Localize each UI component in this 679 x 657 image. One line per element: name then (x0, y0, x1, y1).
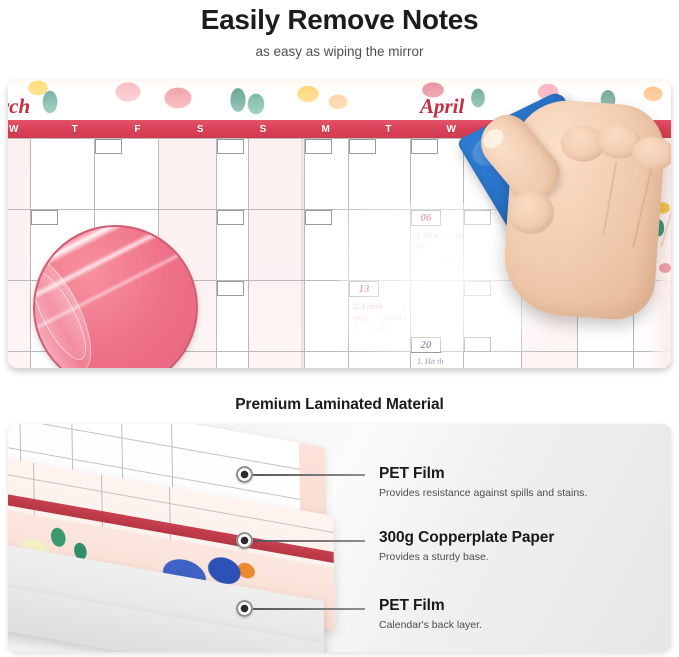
date-box (217, 281, 244, 296)
date-box (349, 139, 376, 154)
day-initial: T (44, 120, 107, 138)
day-initial: S (169, 120, 232, 138)
date-cell-13: 13 (349, 281, 379, 297)
callout-dot-copperplate-paper (236, 532, 253, 549)
grid-column-line (410, 138, 411, 368)
callout-heading: 300g Copperplate Paper (379, 528, 554, 547)
product-infographic: Easily Remove Notes as easy as wiping th… (0, 0, 679, 657)
day-initial: S (232, 120, 295, 138)
material-layers-diagram: PET Film Provides resistance against spi… (8, 424, 671, 652)
grid-column-line (304, 138, 305, 368)
grid-column-line (30, 138, 31, 368)
callout-dot-pet-film-back (236, 600, 253, 617)
callout-line-pet-film-back (253, 608, 365, 610)
day-initial: T (357, 120, 420, 138)
month-label-april: April (420, 94, 464, 119)
handwritten-note-20-line2: 2. Buy ip (417, 367, 462, 368)
grid-column-line (216, 138, 217, 368)
date-box (305, 210, 332, 225)
callout-description: Provides a sturdy base. (379, 547, 554, 565)
date-box (411, 139, 438, 154)
callout-dot-pet-film-top (236, 466, 253, 483)
grid-column-line (248, 138, 249, 368)
callout-line-pet-film-top (253, 474, 365, 476)
header: Easily Remove Notes as easy as wiping th… (0, 0, 679, 70)
knuckle-shape (631, 135, 671, 172)
date-box (305, 139, 332, 154)
calendar-center-fold (301, 138, 304, 368)
material-section-title: Premium Laminated Material (0, 396, 679, 414)
finger-crease (632, 169, 651, 247)
handwritten-note-13-line1: 2. Finish e (354, 302, 406, 313)
finger-crease (660, 179, 671, 247)
grid-column-line (348, 138, 349, 368)
finger-crease (602, 162, 616, 235)
callout-heading: PET Film (379, 596, 482, 615)
handwritten-note-06-line2: for ? (416, 242, 431, 253)
date-box (95, 139, 122, 154)
date-cell-20: 20 (411, 337, 441, 353)
callout-text-pet-film-back: PET Film Calendar's back layer. (379, 596, 482, 633)
handwritten-note-13-line3: ? n 5r (354, 324, 387, 335)
grid-tint (248, 138, 302, 368)
date-box (217, 139, 244, 154)
thumbnail-shape (480, 125, 507, 151)
date-box (31, 210, 58, 225)
grid-tint (8, 138, 30, 368)
callout-text-pet-film-top: PET Film Provides resistance against spi… (379, 464, 587, 501)
calendar-demo-image: rch April W T F S S M T W T F S (8, 80, 671, 368)
hand-with-eraser (466, 80, 671, 330)
page-title: Easily Remove Notes (0, 0, 679, 37)
handwritten-note-06-line1: 1. Writ ter (416, 231, 465, 242)
callout-text-copperplate-paper: 300g Copperplate Paper Provides a sturdy… (379, 528, 554, 565)
date-box (464, 337, 491, 352)
handwritten-note-06-line3: ? nd " (416, 253, 457, 264)
callout-description: Calendar's back layer. (379, 615, 482, 633)
handwritten-note-13-line2: proj jnceri? (354, 313, 406, 324)
lower-thumb-shape (508, 192, 554, 234)
month-label-march: rch (8, 94, 30, 119)
day-initial: W (8, 120, 44, 138)
day-initial: F (106, 120, 169, 138)
page-subtitle: as easy as wiping the mirror (0, 37, 679, 61)
day-initial: M (295, 120, 358, 138)
callout-description: Provides resistance against spills and s… (379, 483, 587, 501)
date-cell-06: 06 (411, 210, 441, 226)
grid-column-line (463, 138, 464, 368)
callout-line-copperplate-paper (253, 540, 365, 542)
callout-heading: PET Film (379, 464, 587, 483)
handwritten-note-20-line1: 1. Hit th (417, 357, 443, 368)
date-box (217, 210, 244, 225)
